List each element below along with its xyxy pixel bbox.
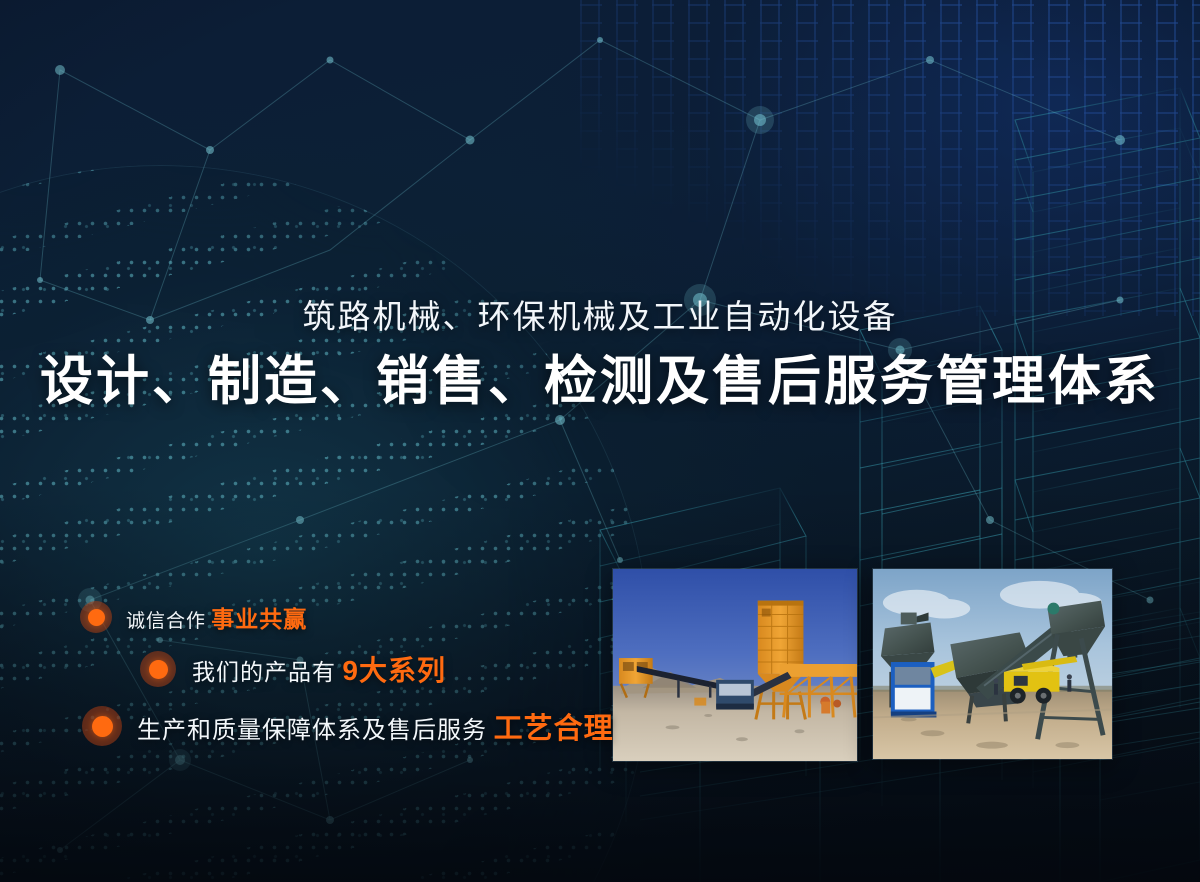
- bullet-item: 我们的产品有 9大系列: [140, 646, 600, 692]
- bullet-item: 诚信合作 事业共赢: [80, 596, 600, 638]
- promo-banner: 筑路机械、环保机械及工业自动化设备 设计、制造、销售、检测及售后服务管理体系 诚…: [0, 0, 1200, 882]
- bullet-text-accent: 9大系列: [342, 655, 446, 686]
- orange-dot-icon: [82, 706, 122, 746]
- headline-block: 筑路机械、环保机械及工业自动化设备 设计、制造、销售、检测及售后服务管理体系: [0, 298, 1200, 412]
- banner-headline: 设计、制造、销售、检测及售后服务管理体系: [0, 351, 1200, 412]
- feature-bullet-list: 诚信合作 事业共赢 我们的产品有 9大系列 生产和质量保障体系及售后服务 工艺合…: [0, 596, 600, 751]
- orange-dot-icon: [140, 651, 176, 687]
- photo-alt-2: 移动式破碎筛分设备及黄色工程车现场照片: [0, 0, 1, 1]
- photo-alt-1: 橙色混凝土搅拌站设备现场照片: [0, 0, 1, 1]
- bullet-text-plain: 诚信合作: [126, 611, 206, 632]
- bullet-text-accent: 事业共赢: [211, 606, 307, 632]
- banner-subheadline: 筑路机械、环保机械及工业自动化设备: [0, 298, 1200, 337]
- orange-dot-icon: [80, 601, 112, 633]
- bullet-item: 生产和质量保障体系及售后服务 工艺合理: [82, 701, 600, 751]
- bullet-text-plain: 我们的产品有: [192, 659, 336, 685]
- bullet-text-accent: 工艺合理: [494, 713, 614, 745]
- bullet-text-plain: 生产和质量保障体系及售后服务: [137, 717, 487, 744]
